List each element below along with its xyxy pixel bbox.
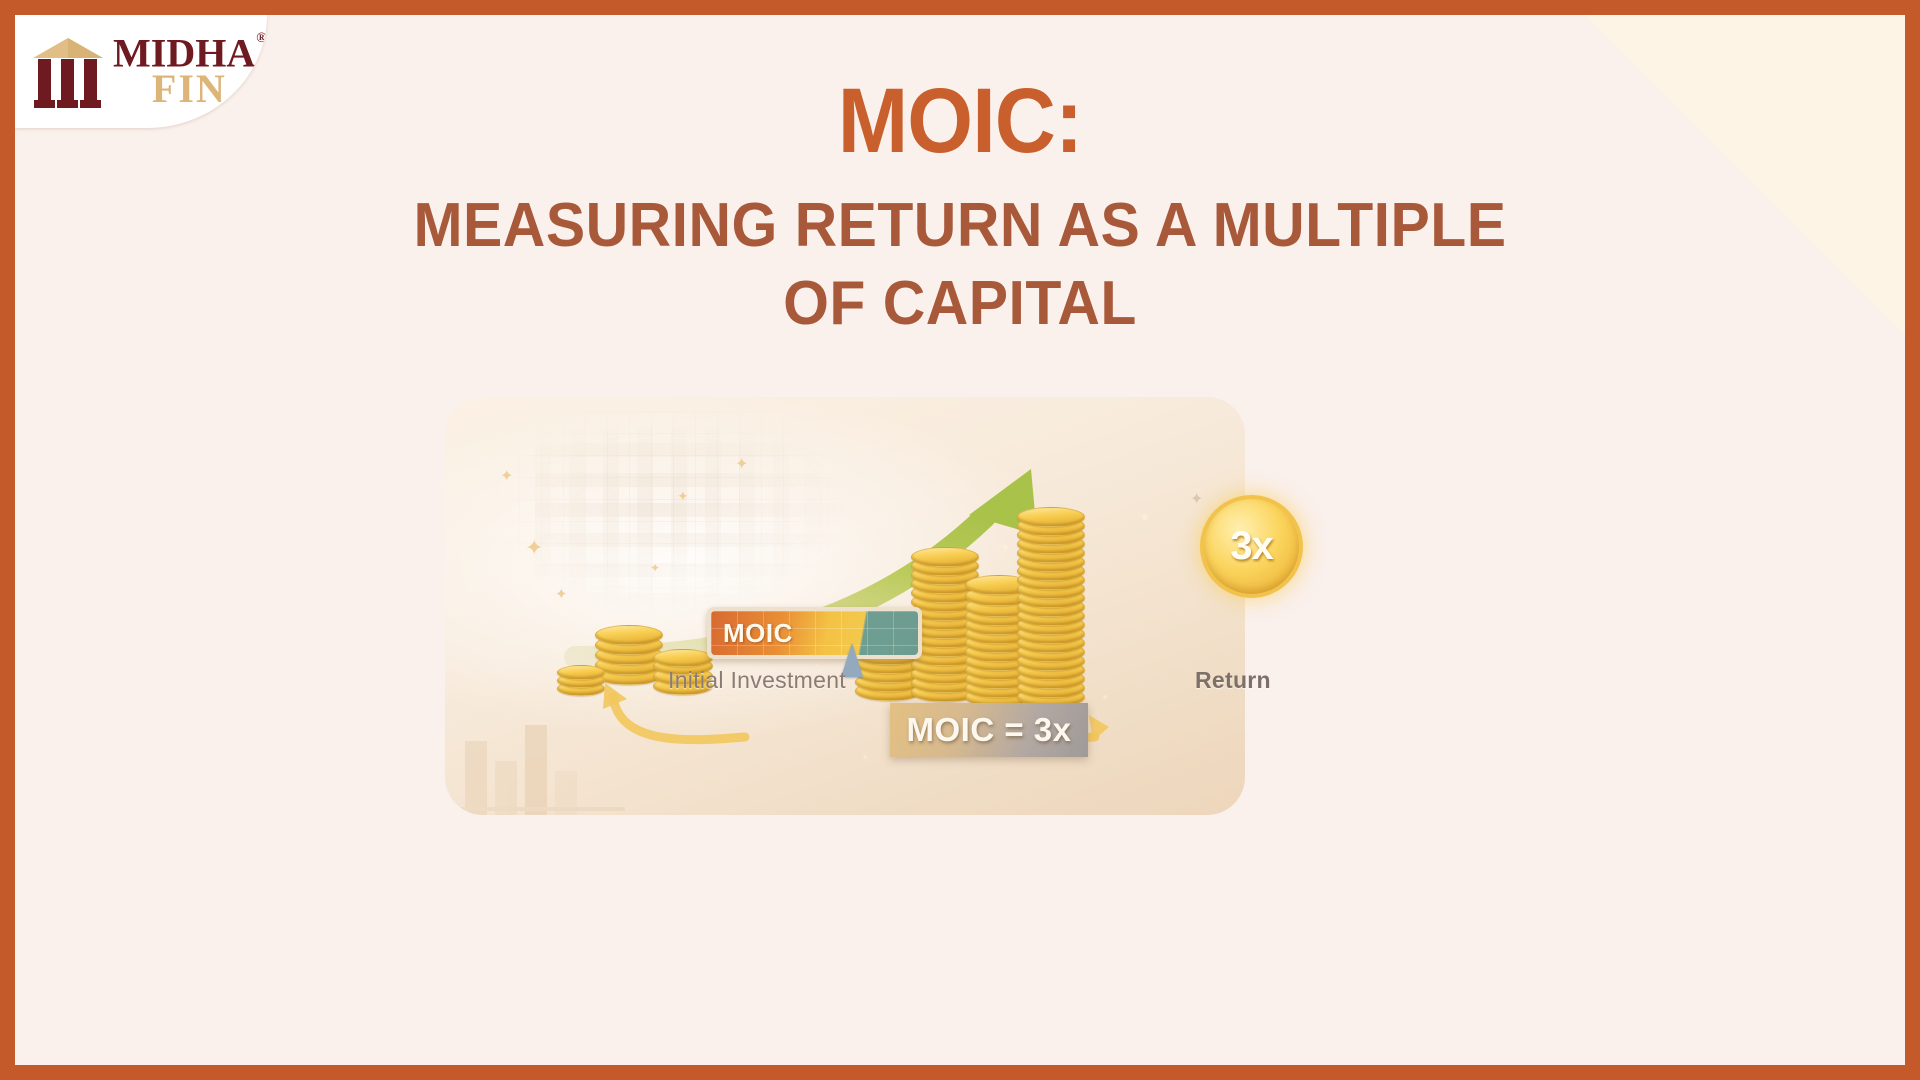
page-title: MOIC: <box>279 73 1641 169</box>
coin-stack-icon <box>557 665 607 693</box>
result-banner-label: MOIC = 3x <box>907 711 1072 749</box>
growth-arrow-icon <box>445 397 1245 815</box>
label-initial-investment: Initial Investment <box>668 667 846 694</box>
calculator-icon: MOIC <box>707 607 922 659</box>
logo-word-midha: MIDHA® <box>113 32 266 70</box>
poster-canvas: MIDHA® FIN MOIC: MEASURING RETURN AS A M… <box>0 0 1920 1080</box>
label-return: Return <box>1195 667 1271 694</box>
registered-trademark-icon: ® <box>256 31 266 46</box>
multiple-badge-label: 3x <box>1230 524 1273 569</box>
bank-pillars-icon <box>29 32 107 112</box>
heading-block: MOIC: MEASURING RETURN AS A MULTIPLE OF … <box>220 73 1700 343</box>
coin-stack-icon <box>1017 507 1087 699</box>
result-banner: MOIC = 3x <box>890 703 1088 757</box>
page-subtitle: MEASURING RETURN AS A MULTIPLE OF CAPITA… <box>400 187 1521 343</box>
illustration-card: ✦ ✦ ✦ ✦ ✦ ✦ ✦ ✦ <box>445 397 1245 815</box>
multiple-badge-3x: 3x <box>1200 495 1303 598</box>
calculator-label: MOIC <box>711 618 793 649</box>
